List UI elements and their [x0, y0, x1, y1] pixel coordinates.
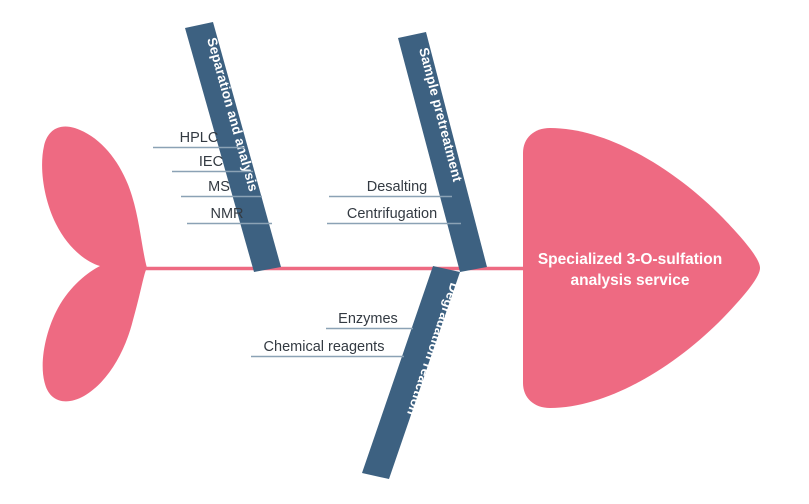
- cause-label-nmr: NMR: [210, 206, 243, 222]
- fish-head-shape: [523, 128, 760, 408]
- fish-head-title-line1: Specialized 3-O-sulfation: [538, 251, 722, 268]
- cause-label-desalting: Desalting: [367, 179, 427, 195]
- branch-degradation-reaction[interactable]: Degradation reaction Enzymes Chemical re…: [251, 266, 462, 479]
- fish-head: Specialized 3-O-sulfation analysis servi…: [523, 128, 760, 408]
- fishbone-diagram: Specialized 3-O-sulfation analysis servi…: [0, 0, 809, 504]
- fish-tail-shape: [42, 127, 147, 402]
- branch-bone-sample-pretreatment[interactable]: [398, 32, 487, 272]
- cause-label-centrifugation: Centrifugation: [347, 206, 437, 222]
- cause-label-enzymes: Enzymes: [338, 311, 398, 327]
- cause-label-chemical-reagents: Chemical reagents: [264, 339, 385, 355]
- cause-centrifugation[interactable]: Centrifugation: [327, 206, 461, 224]
- fishbone-canvas: Specialized 3-O-sulfation analysis servi…: [0, 0, 809, 504]
- fish-tail: [42, 127, 147, 402]
- cause-label-ms: MS: [208, 179, 230, 195]
- branch-separation-and-analysis[interactable]: Separation and analysis HPLC IEC: [153, 22, 281, 272]
- fish-head-title-line2: analysis service: [571, 272, 690, 289]
- cause-enzymes[interactable]: Enzymes: [326, 311, 413, 329]
- cause-label-hplc: HPLC: [180, 130, 219, 146]
- cause-label-iec: IEC: [199, 154, 223, 170]
- branch-sample-pretreatment[interactable]: Sample pretreatment Desalting Centrifuga…: [327, 32, 487, 272]
- cause-chemical-reagents[interactable]: Chemical reagents: [251, 339, 404, 357]
- cause-desalting[interactable]: Desalting: [329, 179, 452, 197]
